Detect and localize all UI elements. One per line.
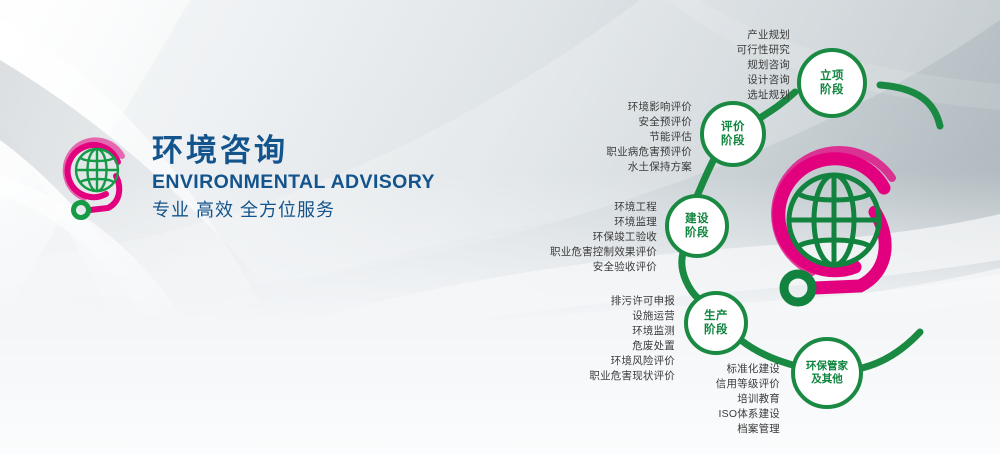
node-label-jian-she: 建设 阶段: [685, 212, 709, 240]
list-item: 危废处置: [490, 339, 675, 354]
diagram-node-ping-jia[interactable]: 评价 阶段: [700, 101, 766, 167]
list-item: 档案管理: [590, 422, 780, 437]
list-item: 培训教育: [590, 392, 780, 407]
list-item: 信用等级评价: [590, 377, 780, 392]
diagram-node-huan-bao-guan-jia[interactable]: 环保管家 及其他: [791, 337, 863, 409]
item-list-ping-jia: 环境影响评价 安全预评价 节能评估 职业病危害预评价 水土保持方案: [500, 100, 692, 175]
center-logo-icon: [752, 140, 922, 320]
list-item: 环境监测: [490, 324, 675, 339]
diagram-node-li-xiang[interactable]: 立项 阶段: [797, 48, 867, 118]
list-item: 环境监理: [470, 215, 657, 230]
item-list-li-xiang: 产业规划 可行性研究 规划咨询 设计咨询 选址规划: [600, 28, 790, 103]
list-item: 可行性研究: [600, 43, 790, 58]
node-label-huan-bao-guan-jia: 环保管家 及其他: [806, 360, 848, 386]
list-item: 水土保持方案: [500, 160, 692, 175]
node-label-li-xiang: 立项 阶段: [820, 69, 844, 97]
list-item: ISO体系建设: [590, 407, 780, 422]
diagram-node-sheng-chan[interactable]: 生产 阶段: [684, 291, 748, 355]
node-label-sheng-chan: 生产 阶段: [704, 309, 728, 337]
list-item: 环境工程: [470, 200, 657, 215]
diagram-node-jian-she[interactable]: 建设 阶段: [665, 194, 729, 258]
process-diagram: 立项 阶段 产业规划 可行性研究 规划咨询 设计咨询 选址规划 评价 阶段 环境…: [0, 0, 1000, 454]
list-item: 设施运营: [490, 309, 675, 324]
list-item: 节能评估: [500, 130, 692, 145]
list-item: 产业规划: [600, 28, 790, 43]
list-item: 排污许可申报: [490, 294, 675, 309]
item-list-jian-she: 环境工程 环境监理 环保竣工验收 职业危害控制效果评价 安全验收评价: [470, 200, 657, 275]
list-item: 规划咨询: [600, 58, 790, 73]
list-item: 标准化建设: [590, 362, 780, 377]
node-label-ping-jia: 评价 阶段: [721, 120, 745, 148]
list-item: 环境影响评价: [500, 100, 692, 115]
list-item: 环保竣工验收: [470, 230, 657, 245]
list-item: 职业危害控制效果评价: [470, 245, 657, 260]
list-item: 设计咨询: [600, 73, 790, 88]
list-item: 职业病危害预评价: [500, 145, 692, 160]
banner-canvas: 环境咨询 ENVIRONMENTAL ADVISORY 专业 高效 全方位服务: [0, 0, 1000, 454]
list-item: 安全验收评价: [470, 260, 657, 275]
item-list-huan-bao-guan-jia: 标准化建设 信用等级评价 培训教育 ISO体系建设 档案管理: [590, 362, 780, 437]
list-item: 安全预评价: [500, 115, 692, 130]
